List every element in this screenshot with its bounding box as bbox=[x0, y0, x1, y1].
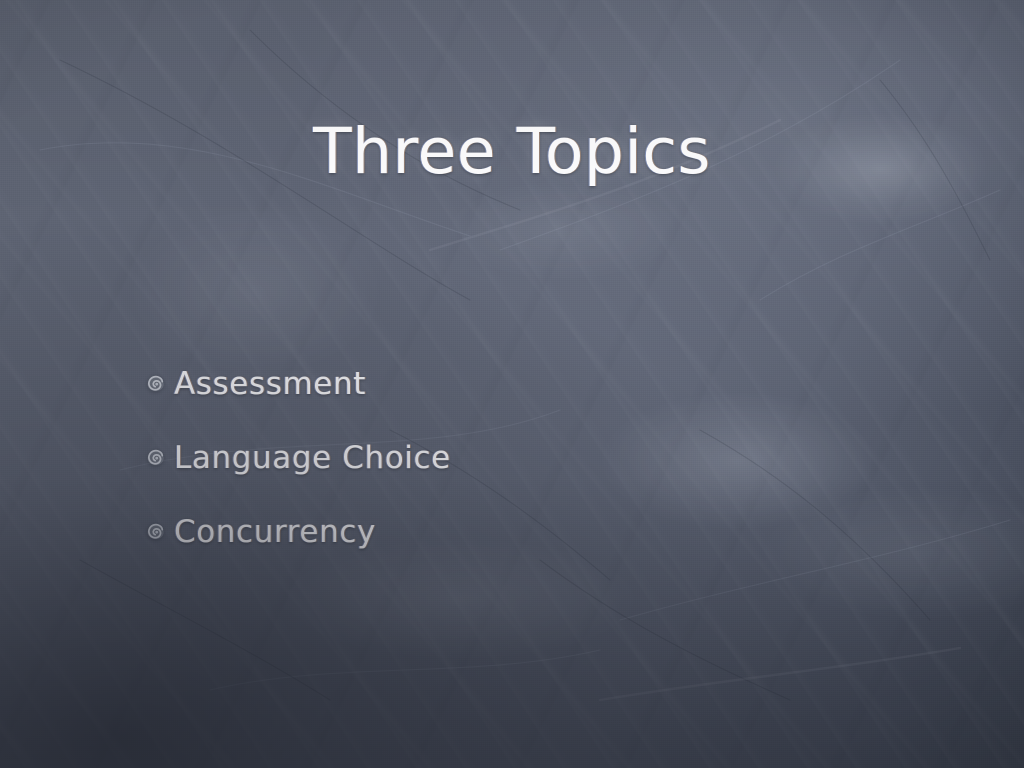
slide-vignette bbox=[0, 0, 1024, 768]
chalkboard-slide: Three Topics Assessment Language Choice bbox=[0, 0, 1024, 768]
